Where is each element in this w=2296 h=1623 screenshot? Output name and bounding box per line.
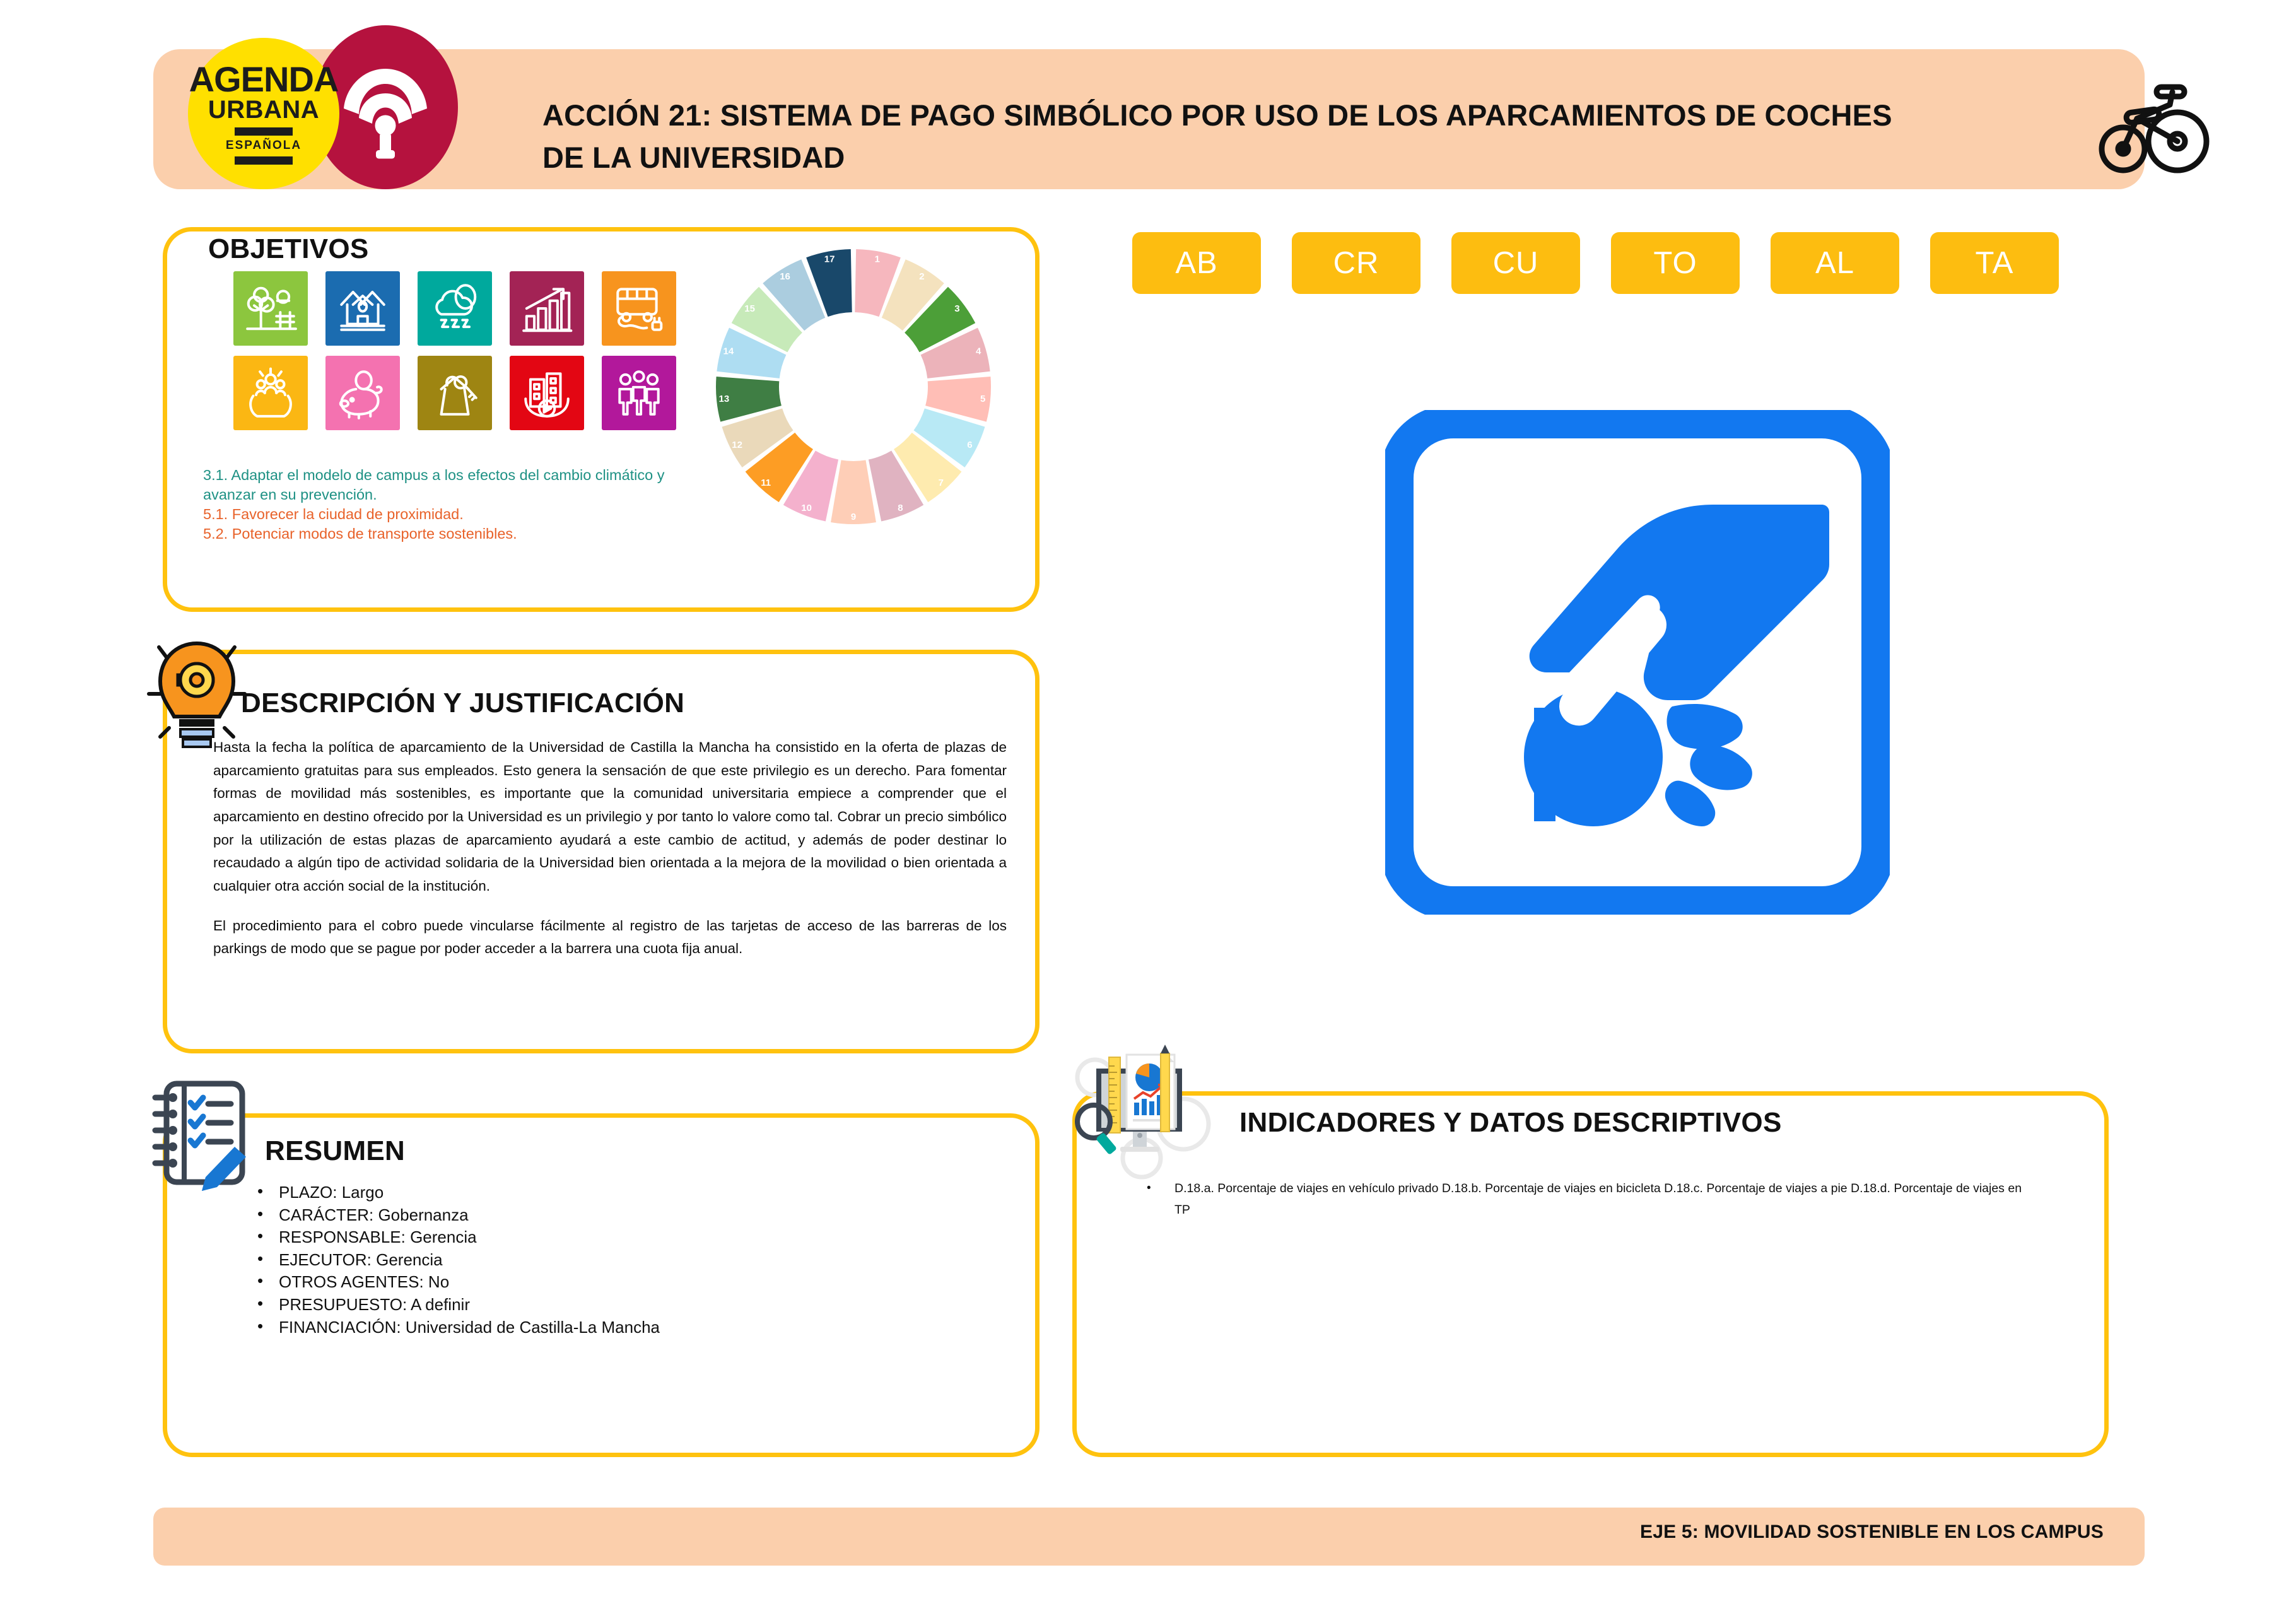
resumen-item: FINANCIACIÓN: Universidad de Castilla-La… (252, 1316, 946, 1339)
logo-line-urbana: URBANA (208, 97, 319, 123)
campus-tag-to[interactable]: TO (1611, 232, 1740, 294)
piggy-bank-icon (325, 356, 400, 430)
lightbulb-gear-icon (140, 631, 254, 757)
campus-tag-ab[interactable]: AB (1132, 232, 1261, 294)
group-people-icon (602, 356, 676, 430)
descripcion-title: DESCRIPCIÓN Y JUSTIFICACIÓN (241, 688, 684, 719)
objetivo-line: 3.1. Adaptar el modelo de campus a los e… (203, 466, 720, 505)
sdg-segment-number: 15 (744, 303, 755, 314)
campus-tag-al[interactable]: AL (1771, 232, 1899, 294)
sdg-segment-number: 4 (976, 346, 981, 357)
growth-chart-icon (510, 271, 584, 346)
sdg-segment-number: 7 (939, 478, 944, 488)
campus-tag-ta[interactable]: TA (1930, 232, 2059, 294)
descripcion-body: Hasta la fecha la política de aparcamien… (213, 736, 1007, 961)
footer-label: EJE 5: MOVILIDAD SOSTENIBLE EN LOS CAMPU… (1640, 1521, 2104, 1543)
sdg-segment-number: 14 (723, 346, 734, 357)
objetivos-title: OBJETIVOS (208, 233, 369, 265)
hands-people-icon (233, 356, 308, 430)
poster-page: AGENDA URBANA ESPAÑOLA ACCIÓN 21: SISTEM… (0, 0, 2296, 1623)
descripcion-paragraph: Hasta la fecha la política de aparcamien… (213, 736, 1007, 898)
sdg-segment-number: 5 (980, 394, 985, 404)
bicycle-icon (2092, 78, 2211, 179)
house-keys-icon (418, 356, 492, 430)
resumen-item: CARÁCTER: Gobernanza (252, 1204, 946, 1227)
indicadores-card (1072, 1091, 2109, 1457)
resumen-title: RESUMEN (265, 1135, 405, 1167)
sdg-segment-number: 13 (719, 394, 730, 404)
page-title: ACCIÓN 21: SISTEMA DE PAGO SIMBÓLICO POR… (542, 95, 1930, 179)
resumen-list: PLAZO: Largo CARÁCTER: Gobernanza RESPON… (252, 1181, 946, 1339)
hand-coin-payment-icon (1385, 410, 1890, 915)
logo-line-agenda: AGENDA (189, 62, 339, 96)
sdg-segment-number: 12 (732, 440, 742, 450)
city-media-icon (510, 356, 584, 430)
resumen-item: RESPONSABLE: Gerencia (252, 1226, 946, 1249)
logo-line-espanola: ESPAÑOLA (226, 139, 302, 153)
agenda-urbana-logo: AGENDA URBANA ESPAÑOLA (188, 38, 339, 189)
objetivo-line: 5.2. Potenciar modos de transporte soste… (203, 524, 720, 544)
sdg-segment-number: 1 (875, 254, 880, 265)
indicadores-list: D.18.a. Porcentaje de viajes en vehículo… (1135, 1178, 2031, 1221)
sdg-segment-number: 16 (780, 271, 790, 282)
objetivos-lines: 3.1. Adaptar el modelo de campus a los e… (203, 466, 720, 544)
electric-bus-icon (602, 271, 676, 346)
analytics-monitor-icon (1072, 1041, 1217, 1186)
storm-cloud-icon (418, 271, 492, 346)
campus-tag-cr[interactable]: CR (1292, 232, 1420, 294)
sdg-segment-number: 11 (761, 478, 771, 488)
sdg-segment-number: 6 (967, 440, 972, 450)
descripcion-paragraph: El procedimiento para el cobro puede vin… (213, 915, 1007, 961)
sdg-segment-number: 2 (919, 271, 924, 282)
campus-tag-list: AB CR CU TO AL TA (1132, 232, 2059, 294)
sdg-segment-number: 17 (824, 254, 835, 265)
indicadores-title: INDICADORES Y DATOS DESCRIPTIVOS (1239, 1107, 1782, 1139)
resumen-item: PRESUPUESTO: A definir (252, 1294, 946, 1316)
sdg-segment-number: 8 (898, 503, 903, 513)
resumen-item: PLAZO: Largo (252, 1181, 946, 1204)
park-tree-icon (233, 271, 308, 346)
house-building-icon (325, 271, 400, 346)
objetivos-icon-grid (233, 271, 676, 430)
objetivo-line: 5.1. Favorecer la ciudad de proximidad. (203, 505, 720, 524)
sdg-wheel-icon: 1234567891011121314151617 (712, 245, 995, 529)
notepad-checklist-icon (145, 1072, 259, 1192)
logo-rule-top (235, 127, 293, 136)
sdg-segment-number: 10 (801, 503, 812, 513)
sdg-segment-number: 3 (954, 303, 959, 314)
resumen-item: EJECUTOR: Gerencia (252, 1249, 946, 1272)
indicador-item: D.18.a. Porcentaje de viajes en vehículo… (1135, 1178, 2031, 1221)
campus-tag-cu[interactable]: CU (1451, 232, 1580, 294)
sdg-segment-number: 9 (851, 512, 856, 522)
logo-rule-bottom (235, 156, 293, 165)
resumen-item: OTROS AGENTES: No (252, 1271, 946, 1294)
